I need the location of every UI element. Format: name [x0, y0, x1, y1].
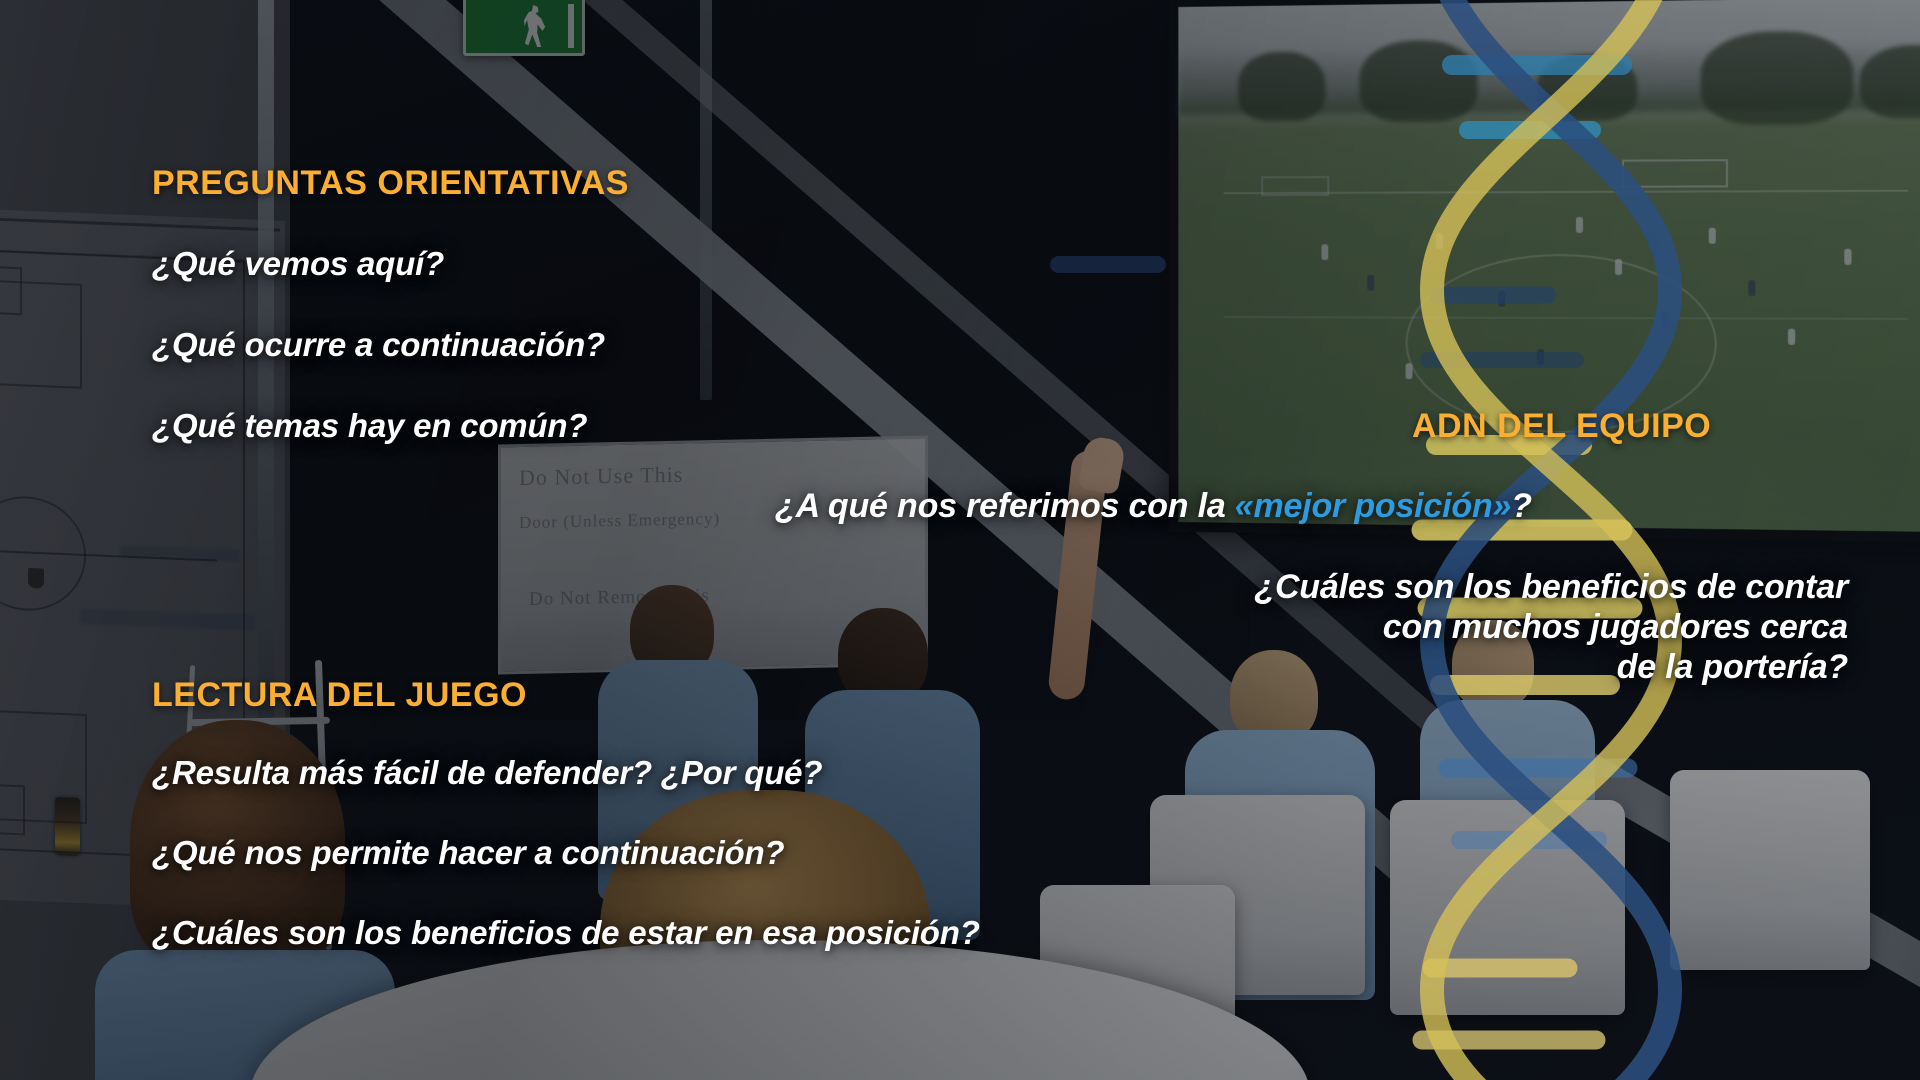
question-line-3: de la portería?	[1254, 648, 1848, 688]
question-line-2: con muchos jugadores cerca	[1254, 608, 1848, 648]
question-resulta-mas-facil-de-defender: ¿Resulta más fácil de defender? ¿Por qué…	[152, 754, 822, 792]
question-prefix: ¿A qué nos referimos con la	[775, 487, 1235, 525]
question-beneficios-de-estar-en-esa-posicion: ¿Cuáles son los beneficios de estar en e…	[152, 914, 980, 952]
slide-canvas: Do Not Use This Door (Unless Emergency) …	[0, 0, 1920, 1080]
question-que-vemos-aqui: ¿Qué vemos aquí?	[152, 245, 444, 283]
question-que-temas-hay-en-comun: ¿Qué temas hay en común?	[152, 407, 587, 445]
question-line-1: ¿Cuáles son los beneficios de contar	[1254, 568, 1848, 608]
question-que-ocurre-a-continuacion: ¿Qué ocurre a continuación?	[152, 326, 605, 364]
section-title-lectura-del-juego: LECTURA DEL JUEGO	[152, 676, 527, 715]
question-mejor-posicion: ¿A qué nos referimos con la «mejor posic…	[775, 487, 1532, 526]
question-beneficios-jugadores-cerca-porteria: ¿Cuáles son los beneficios de contar con…	[1254, 568, 1848, 687]
question-que-nos-permite-hacer: ¿Qué nos permite hacer a continuación?	[152, 834, 784, 872]
question-highlight-mejor-posicion: «mejor posición»	[1235, 487, 1511, 525]
dna-double-helix-graphic	[1370, 0, 1700, 1080]
dna-rung	[1050, 256, 1166, 273]
section-title-adn-del-equipo: ADN DEL EQUIPO	[1412, 407, 1711, 446]
question-suffix: ?	[1511, 487, 1532, 525]
section-title-preguntas-orientativas: PREGUNTAS ORIENTATIVAS	[152, 164, 629, 203]
